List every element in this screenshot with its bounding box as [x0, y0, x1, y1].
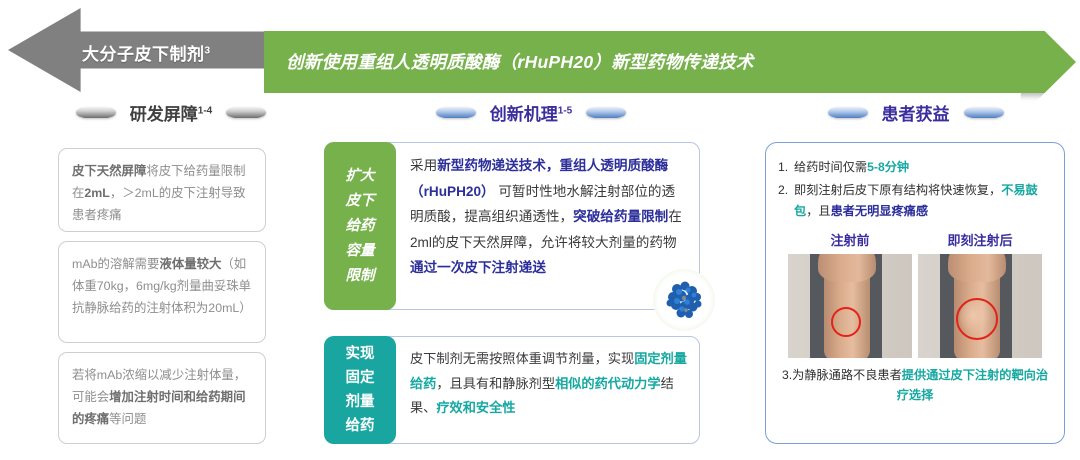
hand-shape [948, 254, 1006, 282]
list-item: 2. 即刻注射后皮下原有结构将快速恢复，不易鼓包，且患者无明显疼痛感 [778, 180, 1052, 222]
list-item-text: 给药时间仅需5-8分钟 [794, 157, 909, 178]
forearm-photo-after [918, 254, 1042, 358]
slide-root: 大分子皮下制剂3 创新使用重组人透明质酸酶（rHuPH20）新型药物传递技术 研… [0, 0, 1080, 460]
column-title-benefits: 患者获益 [882, 100, 950, 125]
benefits-list: 1. 给药时间仅需5-8分钟 2. 即刻注射后皮下原有结构将快速恢复，不易鼓包，… [778, 157, 1052, 222]
list-item-number: 1. [778, 157, 794, 178]
photo-caption: 即刻注射后 [918, 230, 1042, 249]
left-arrow-superscript: 3 [205, 45, 211, 56]
barrier-card: mAb的溶解需要液体量较大（如体重70kg，6mg/kg剂量曲妥珠单抗静脉给药的… [58, 241, 266, 343]
mechanism-card: 实现固定剂量给药 皮下制剂无需按照体重调节剂量，实现固定剂量给药，且具有和静脉剂… [324, 336, 700, 444]
protein-molecule-icon [653, 269, 715, 331]
photo-before: 注射前 [788, 230, 912, 358]
ornament-right-icon [964, 107, 1004, 118]
right-arrow-label: 创新使用重组人透明质酸酶（rHuPH20）新型药物传递技术 [286, 49, 986, 74]
photo-caption: 注射前 [788, 230, 912, 249]
ornament-left-icon [76, 107, 116, 118]
mechanism-body: 采用新型药物递送技术，重组人透明质酸酶（rHuPH20） 可暂时性地水解注射部位… [396, 143, 699, 309]
mechanism-body: 皮下制剂无需按照体重调节剂量，实现固定剂量给药，且具有和静脉剂型相似的药代动力学… [396, 337, 699, 443]
hand-shape [818, 254, 876, 282]
benefits-panel: 1. 给药时间仅需5-8分钟 2. 即刻注射后皮下原有结构将快速恢复，不易鼓包，… [765, 142, 1065, 444]
benefits-footnote: 3.为静脉通路不良患者提供通过皮下注射的靶向治疗选择 [778, 365, 1052, 405]
column-heading-barriers: 研发屏障1-4 [46, 100, 296, 125]
ornament-left-icon [828, 107, 868, 118]
column-heading-benefits: 患者获益 [768, 100, 1063, 125]
ornament-right-icon [586, 107, 626, 118]
column-heading-mechanism: 创新机理1-5 [356, 100, 706, 125]
column-title-barriers: 研发屏障1-4 [130, 100, 212, 125]
left-arrow-text: 大分子皮下制剂 [82, 45, 205, 64]
photo-after: 即刻注射后 [918, 230, 1042, 358]
barrier-card: 皮下天然屏障将皮下给药量限制在2mL，＞2mL的皮下注射导致患者疼痛 [58, 148, 266, 232]
mechanism-card: 扩大皮下给药容量限制 采用新型药物递送技术，重组人透明质酸酶（rHuPH20） … [324, 142, 700, 310]
injection-site-marker-icon [956, 298, 998, 340]
list-item: 1. 给药时间仅需5-8分钟 [778, 157, 1052, 178]
list-item-text: 即刻注射后皮下原有结构将快速恢复，不易鼓包，且患者无明显疼痛感 [794, 180, 1052, 222]
column-title-mechanism: 创新机理1-5 [490, 100, 572, 125]
barrier-card: 若将mAb浓缩以减少注射体量，可能会增加注射时间和给药期间的疼痛等问题 [58, 352, 266, 444]
photo-comparison: 注射前 即刻注射后 [778, 230, 1052, 358]
injection-site-marker-icon [831, 307, 861, 337]
mechanism-tag: 实现固定剂量给药 [324, 336, 396, 444]
list-item-number: 2. [778, 180, 794, 222]
ornament-left-icon [436, 107, 476, 118]
header-arrow-band: 大分子皮下制剂3 创新使用重组人透明质酸酶（rHuPH20）新型药物传递技术 [0, 8, 1080, 92]
mechanism-tag: 扩大皮下给药容量限制 [324, 142, 396, 310]
forearm-photo-before [788, 254, 912, 358]
ornament-right-icon [226, 107, 266, 118]
